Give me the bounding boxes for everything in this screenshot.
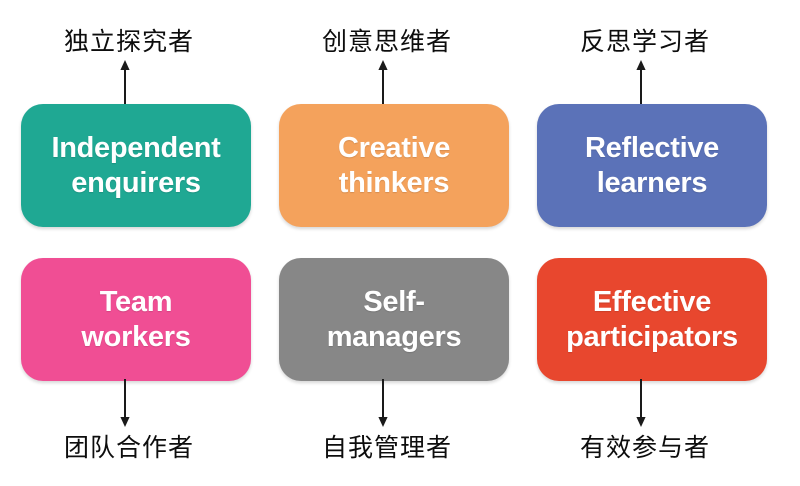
diagram-cell-independent-enquirers: 独立探究者 Independent enquirers <box>0 0 258 243</box>
skill-card-independent-enquirers[interactable]: Independent enquirers <box>21 104 251 227</box>
skill-card-label: Self- managers <box>321 285 468 353</box>
arrow-down-icon-self-managers <box>376 379 390 427</box>
chinese-caption-reflective-learners: 反思学习者 <box>516 22 774 58</box>
skill-card-label: Reflective learners <box>579 131 725 199</box>
arrow-up-icon-creative-thinkers <box>376 60 390 106</box>
arrow-up-icon-independent-enquirers <box>118 60 132 106</box>
diagram-cell-team-workers: Team workers 团队合作者 <box>0 243 258 486</box>
skill-card-label: Independent enquirers <box>45 131 226 199</box>
chinese-caption-independent-enquirers: 独立探究者 <box>0 22 258 58</box>
skill-card-reflective-learners[interactable]: Reflective learners <box>537 104 767 227</box>
diagram-cell-effective-participators: Effective participators 有效参与者 <box>516 243 774 486</box>
skill-card-label: Creative thinkers <box>332 131 456 199</box>
diagram-cell-reflective-learners: 反思学习者 Reflective learners <box>516 0 774 243</box>
skill-card-label: Effective participators <box>560 285 744 353</box>
chinese-caption-team-workers: 团队合作者 <box>0 428 258 464</box>
skill-card-label: Team workers <box>75 285 196 353</box>
skill-card-team-workers[interactable]: Team workers <box>21 258 251 381</box>
skill-card-creative-thinkers[interactable]: Creative thinkers <box>279 104 509 227</box>
chinese-caption-effective-participators: 有效参与者 <box>516 428 774 464</box>
arrow-up-icon-reflective-learners <box>634 60 648 106</box>
chinese-caption-creative-thinkers: 创意思维者 <box>258 22 516 58</box>
arrow-down-icon-team-workers <box>118 379 132 427</box>
diagram-cell-self-managers: Self- managers 自我管理者 <box>258 243 516 486</box>
arrow-down-icon-effective-participators <box>634 379 648 427</box>
diagram-canvas: 独立探究者 Independent enquirers 创意思维者 Creati… <box>0 0 800 486</box>
skill-card-self-managers[interactable]: Self- managers <box>279 258 509 381</box>
chinese-caption-self-managers: 自我管理者 <box>258 428 516 464</box>
skill-card-effective-participators[interactable]: Effective participators <box>537 258 767 381</box>
diagram-cell-creative-thinkers: 创意思维者 Creative thinkers <box>258 0 516 243</box>
